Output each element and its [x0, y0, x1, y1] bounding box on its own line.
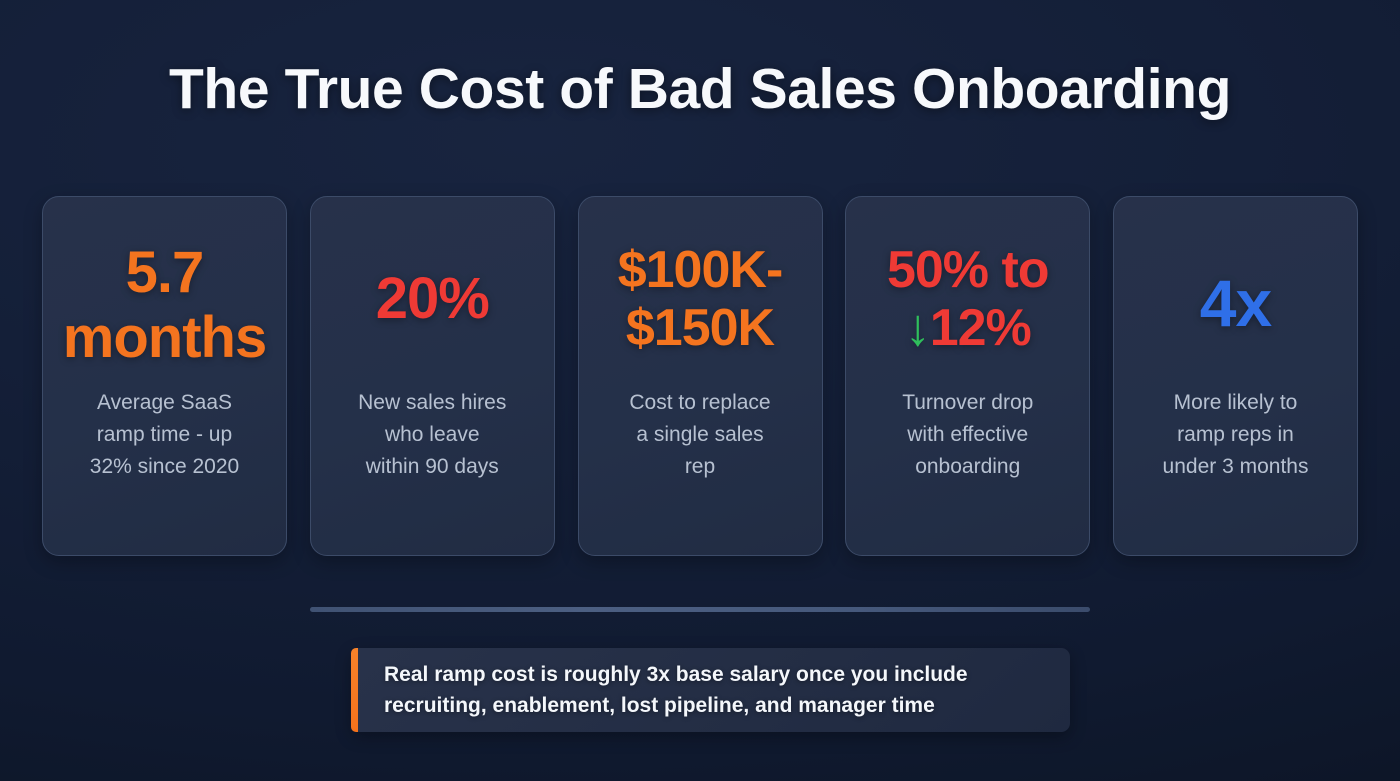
stat-value: 50% to ↓12% [887, 241, 1049, 357]
key-takeaway-callout: Real ramp cost is roughly 3x base salary… [351, 648, 1070, 732]
stat-value: 5.7 months [63, 241, 266, 371]
stat-value: 20% [376, 267, 489, 332]
stat-card-ramp-likelihood: 4x More likely to ramp reps in under 3 m… [1113, 196, 1358, 556]
stat-card-ramp-time: 5.7 months Average SaaS ramp time - up 3… [42, 196, 287, 556]
stat-card-replacement-cost: $100K- $150K Cost to replace a single sa… [578, 196, 823, 556]
stat-card-turnover-drop: 50% to ↓12% Turnover drop with effective… [845, 196, 1090, 556]
stat-description: New sales hires who leave within 90 days [358, 387, 506, 483]
infographic-slide: The True Cost of Bad Sales Onboarding 5.… [0, 0, 1400, 781]
callout-text: Real ramp cost is roughly 3x base salary… [358, 659, 986, 721]
stat-card-attrition: 20% New sales hires who leave within 90 … [310, 196, 555, 556]
section-divider [310, 607, 1090, 612]
page-title: The True Cost of Bad Sales Onboarding [0, 56, 1400, 122]
stat-card-row: 5.7 months Average SaaS ramp time - up 3… [42, 196, 1358, 556]
callout-accent-bar [351, 648, 358, 732]
stat-description: Average SaaS ramp time - up 32% since 20… [90, 387, 239, 483]
stat-value-prefix: 50% to [887, 241, 1049, 299]
stat-value: 4x [1200, 267, 1271, 341]
stat-description: Cost to replace a single sales rep [629, 387, 770, 483]
stat-value-suffix: 12% [930, 299, 1031, 357]
arrow-down-icon: ↓ [905, 299, 930, 357]
stat-description: Turnover drop with effective onboarding [902, 387, 1033, 483]
stat-description: More likely to ramp reps in under 3 mont… [1163, 387, 1309, 483]
stat-value: $100K- $150K [618, 241, 783, 357]
